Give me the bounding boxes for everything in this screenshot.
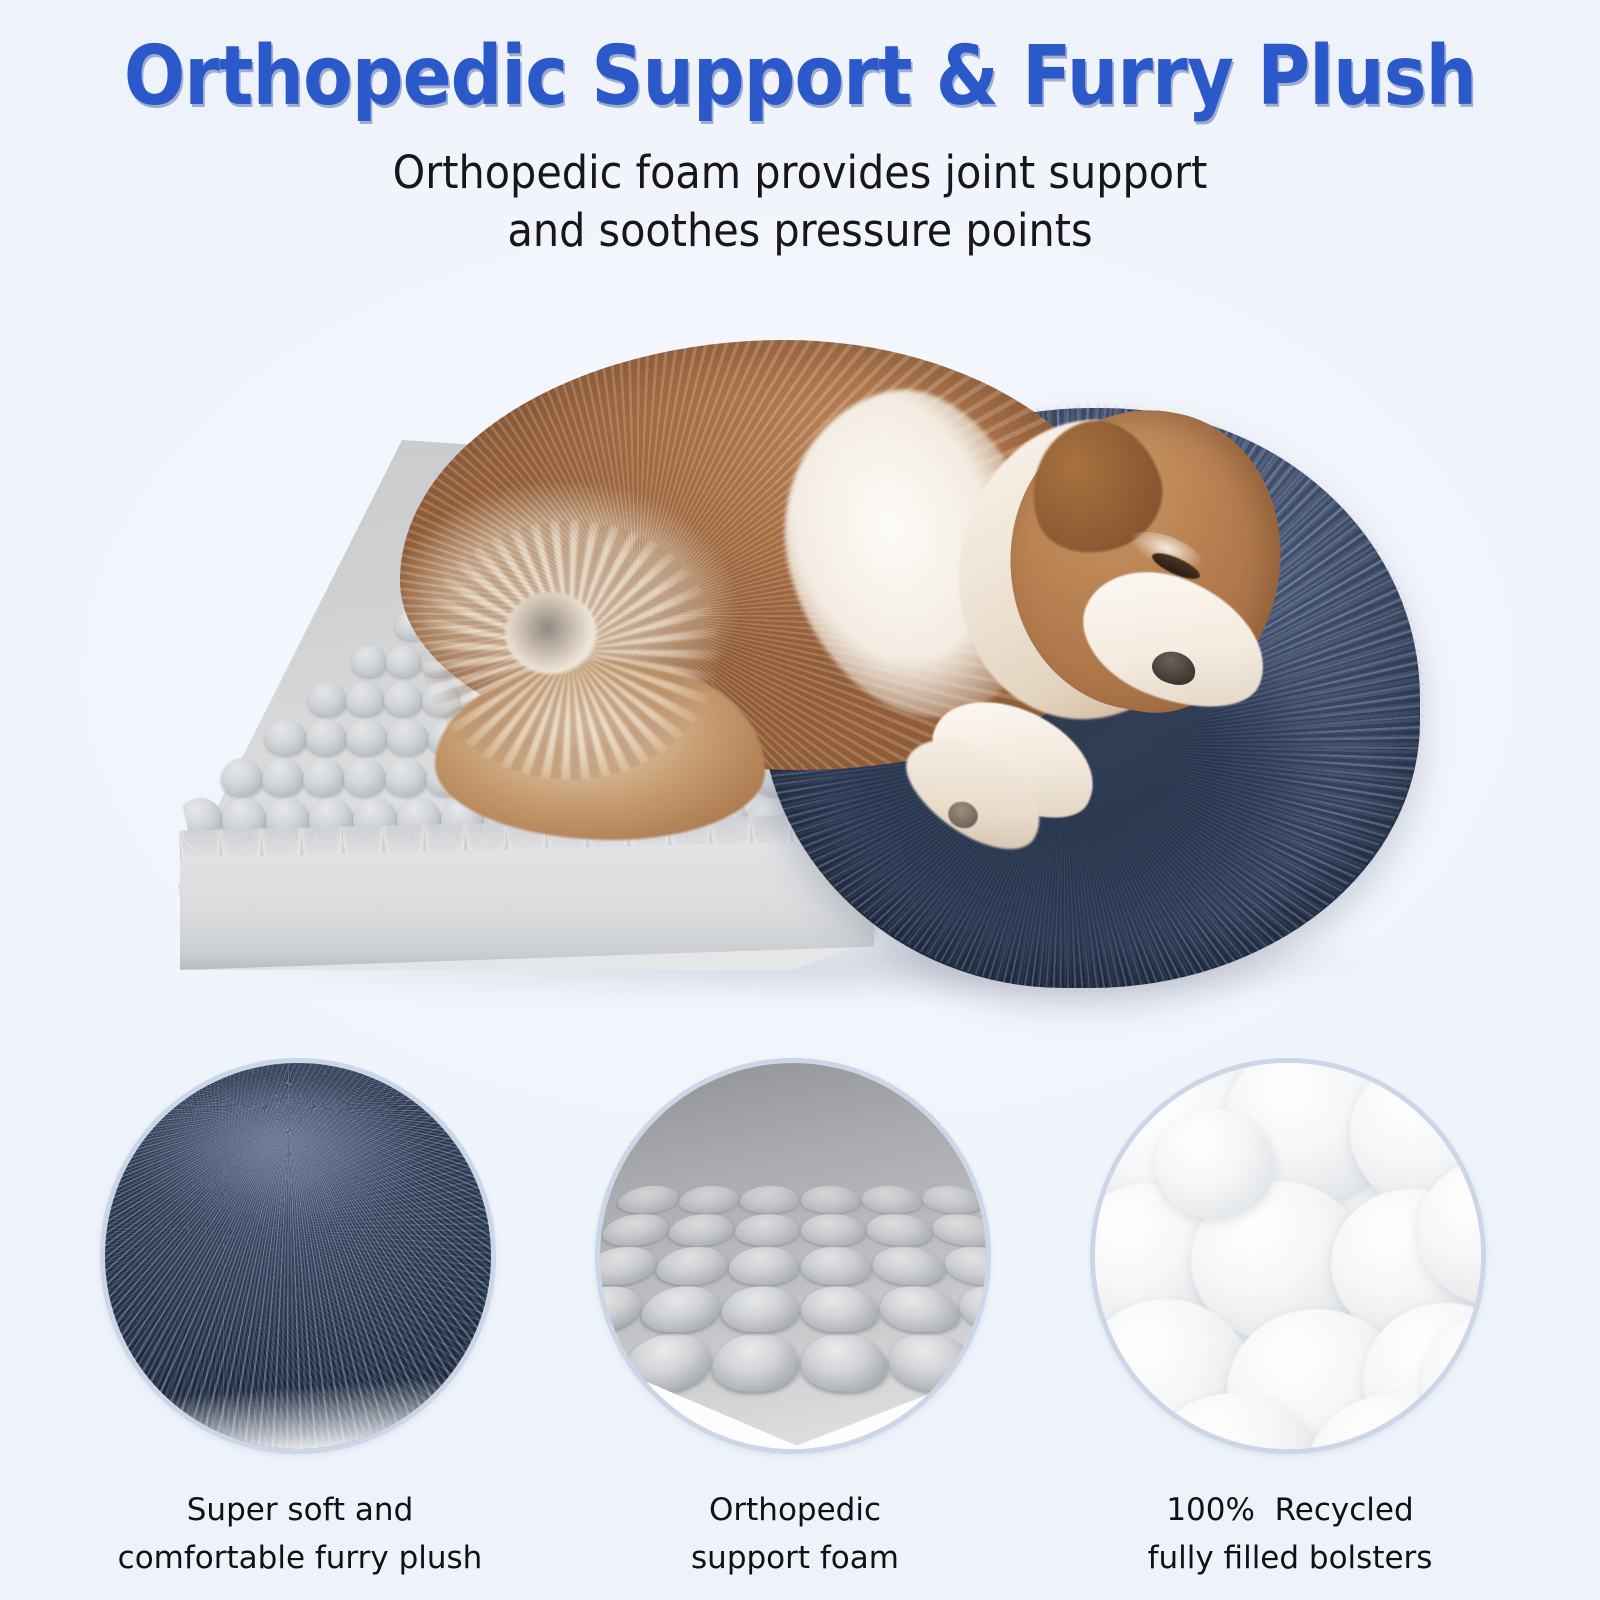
foam-closeup-bump [877, 1286, 966, 1332]
feature-image-fiberfill [1090, 1058, 1486, 1454]
foam-closeup-bump [727, 1247, 800, 1285]
foam-closeup-bump [595, 1247, 663, 1285]
subtitle-line-2: and soothes pressure points [64, 202, 1536, 260]
foam-closeup-bump [636, 1286, 725, 1332]
caption-line-2: fully filled bolsters [1090, 1534, 1490, 1582]
feature-caption-furry-plush: Super soft and comfortable furry plush [100, 1486, 500, 1582]
foam-closeup-bump [860, 1186, 926, 1213]
foam-closeup-bump [801, 1214, 868, 1246]
product-feature-page: Orthopedic Support & Furry Plush Orthope… [0, 0, 1600, 1600]
foam-closeup-bump [709, 1334, 800, 1391]
foam-closeup-bump [719, 1286, 800, 1332]
page-subtitle: Orthopedic foam provides joint support a… [64, 118, 1536, 259]
foam-closeup-bump [613, 1186, 684, 1213]
caption-line-1: Orthopedic [595, 1486, 995, 1534]
feature-image-furry-plush [100, 1058, 496, 1454]
foam-closeup-bump [801, 1186, 862, 1213]
page-title: Orthopedic Support & Furry Plush [96, 0, 1504, 118]
sleeping-dog [0, 330, 1600, 1030]
foam-closeup-bump [802, 1334, 893, 1391]
caption-line-2: comfortable furry plush [100, 1534, 500, 1582]
subtitle-line-1: Orthopedic foam provides joint support [64, 144, 1536, 202]
feature-highlights: Super soft and comfortable furry plush O… [0, 1058, 1600, 1598]
foam-closeup-bump-grid [595, 1186, 991, 1391]
foam-closeup-bump [939, 1247, 991, 1285]
header: Orthopedic Support & Furry Plush Orthope… [0, 0, 1600, 259]
foam-closeup-bump [676, 1186, 742, 1213]
foam-closeup-bump [739, 1186, 800, 1213]
feature-furry-plush: Super soft and comfortable furry plush [100, 1058, 500, 1454]
foam-closeup-bump [595, 1286, 649, 1332]
feature-caption-recycled-bolsters: 100% Recycled fully filled bolsters [1090, 1486, 1490, 1582]
fiberfill-ball [1155, 1109, 1275, 1219]
foam-closeup-bump [870, 1247, 950, 1285]
foam-closeup-bump [928, 1214, 991, 1246]
foam-closeup-bump [665, 1214, 737, 1246]
foam-closeup-bump [802, 1286, 883, 1332]
foam-closeup-bump [652, 1247, 732, 1285]
hero-product-image [0, 330, 1600, 1030]
foam-closeup-bump [802, 1247, 875, 1285]
foam-closeup-bump [865, 1214, 937, 1246]
foam-closeup-bump [733, 1214, 800, 1246]
plush-light-sheen [128, 1086, 421, 1225]
feature-caption-support-foam: Orthopedic support foam [595, 1486, 995, 1582]
feature-recycled-bolsters: 100% Recycled fully filled bolsters [1090, 1058, 1490, 1454]
feature-image-support-foam [595, 1058, 991, 1454]
caption-line-1: 100% Recycled [1090, 1486, 1490, 1534]
dog-tail-swirl-center [505, 592, 597, 674]
caption-line-2: support foam [595, 1534, 995, 1582]
feature-support-foam: Orthopedic support foam [595, 1058, 995, 1454]
caption-line-1: Super soft and [100, 1486, 500, 1534]
